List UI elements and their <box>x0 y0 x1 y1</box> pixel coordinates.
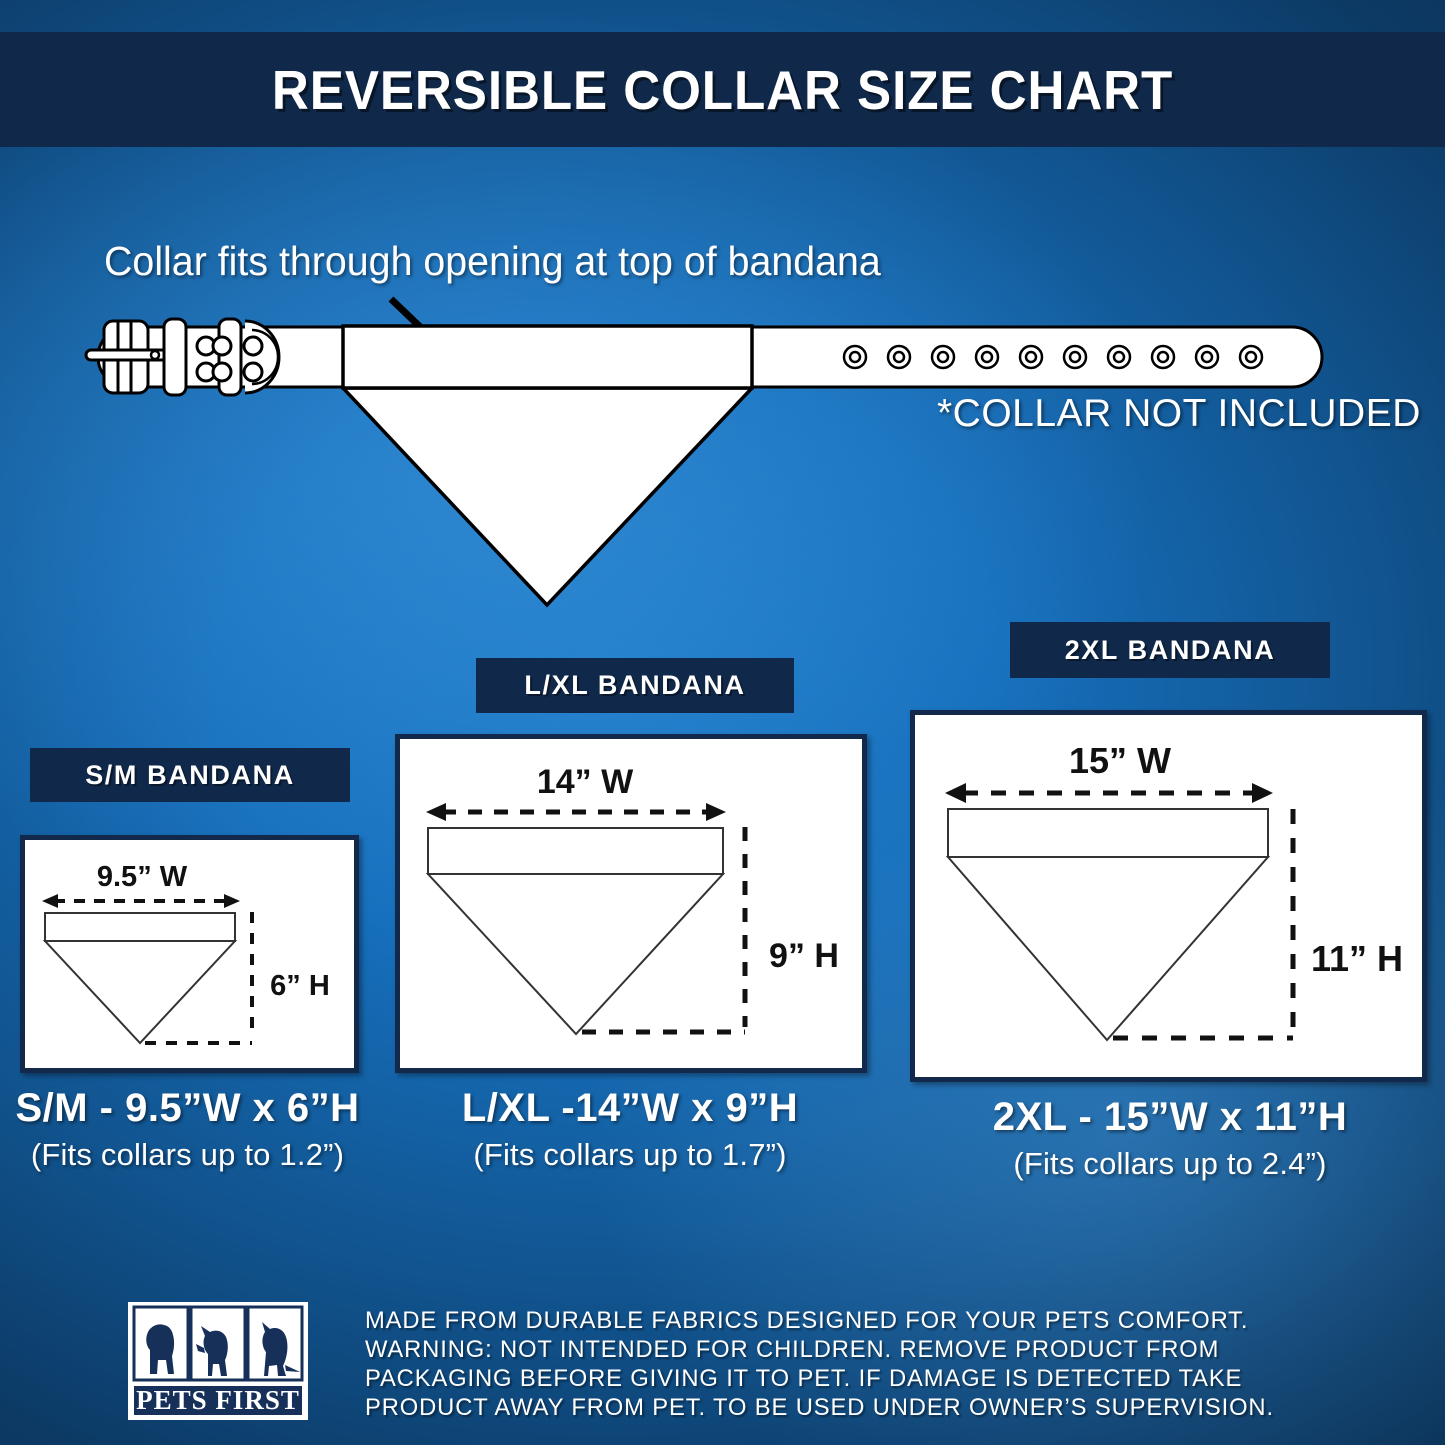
footer-disclaimer: MADE FROM DURABLE FABRICS DESIGNED FOR Y… <box>365 1306 1274 1422</box>
caption-2xl-line2: (Fits collars up to 2.4”) <box>900 1146 1440 1182</box>
caption-2xl: 2XL - 15”W x 11”H (Fits collars up to 2.… <box>900 1095 1440 1182</box>
height-label-lxl: 9” H <box>769 937 839 975</box>
panel-label-2xl: 2XL BANDANA <box>1010 622 1330 678</box>
bandana-diagram-lxl: 14” W 9” H <box>400 739 862 1068</box>
caption-lxl-line2: (Fits collars up to 1.7”) <box>390 1137 870 1173</box>
panel-label-lxl: L/XL BANDANA <box>476 658 794 713</box>
brand-name: PETS FIRST <box>136 1385 300 1415</box>
collar-hole <box>213 363 231 381</box>
disclaimer-line-3: PACKAGING BEFORE GIVING IT TO PET. IF DA… <box>365 1364 1274 1393</box>
title-band: REVERSIBLE COLLAR SIZE CHART <box>0 32 1445 147</box>
panel-card-lxl: 14” W 9” H <box>395 734 867 1073</box>
panel-card-2xl: 15” W 11” H <box>910 710 1427 1082</box>
disclaimer-line-4: PRODUCT AWAY FROM PET. TO BE USED UNDER … <box>365 1393 1274 1422</box>
height-label-sm: 6” H <box>270 970 330 1002</box>
collar-hole <box>244 363 262 381</box>
size-panel-lxl: L/XL BANDANA 14” W 9” H L/XL -14”W x 9”H… <box>390 658 870 1188</box>
bandana-diagram-sm: 9.5” W 6” H <box>25 840 354 1068</box>
caption-sm: S/M - 9.5”W x 6”H (Fits collars up to 1.… <box>0 1086 375 1173</box>
infographic-root: REVERSIBLE COLLAR SIZE CHART Collar fits… <box>0 0 1445 1445</box>
bandana-sleeve <box>343 326 752 388</box>
bandana-diagram-2xl: 15” W 11” H <box>915 715 1422 1077</box>
disclaimer-line-2: WARNING: NOT INTENDED FOR CHILDREN. REMO… <box>365 1335 1274 1364</box>
caption-lxl: L/XL -14”W x 9”H (Fits collars up to 1.7… <box>390 1086 870 1173</box>
caption-sm-line1: S/M - 9.5”W x 6”H <box>0 1086 375 1131</box>
width-label-2xl: 15” W <box>1069 740 1171 781</box>
width-label-lxl: 14” W <box>537 763 634 801</box>
collar-keeper-loop-1 <box>164 319 186 395</box>
collar-hole <box>244 337 262 355</box>
disclaimer-line-1: MADE FROM DURABLE FABRICS DESIGNED FOR Y… <box>365 1306 1274 1335</box>
bandana-triangle <box>343 388 752 605</box>
collar-hole <box>213 337 231 355</box>
collar-keeper-loop-2 <box>219 319 241 395</box>
width-label-sm: 9.5” W <box>97 861 188 893</box>
caption-2xl-line1: 2XL - 15”W x 11”H <box>900 1095 1440 1140</box>
height-label-2xl: 11” H <box>1311 938 1403 979</box>
caption-lxl-line1: L/XL -14”W x 9”H <box>390 1086 870 1131</box>
caption-sm-line2: (Fits collars up to 1.2”) <box>0 1137 375 1173</box>
panel-label-sm: S/M BANDANA <box>30 748 350 802</box>
page-title: REVERSIBLE COLLAR SIZE CHART <box>272 58 1173 122</box>
collar-not-included-note: *COLLAR NOT INCLUDED <box>937 392 1421 436</box>
panel-card-sm: 9.5” W 6” H <box>20 835 359 1073</box>
size-panel-sm: S/M BANDANA 9.5” W 6” H S/M - 9.5”W x 6”… <box>0 748 375 1188</box>
pets-first-logo: PETS FIRST <box>128 1302 308 1425</box>
size-panel-2xl: 2XL BANDANA 15” W 11” H 2XL - 15”W x 11”… <box>900 622 1440 1188</box>
